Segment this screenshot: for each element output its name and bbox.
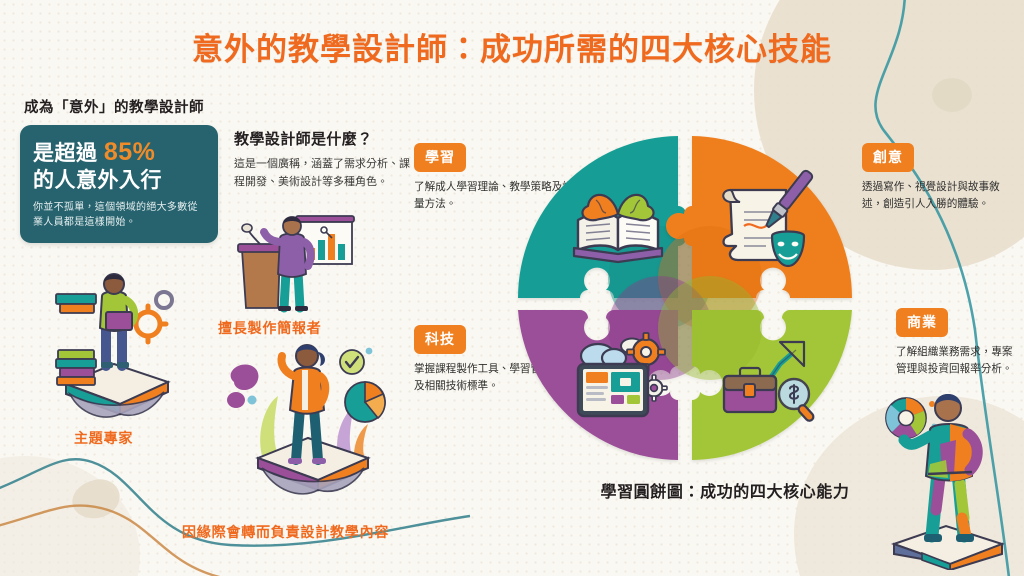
quadrant-body-business: 了解組織業務需求，專案管理與投資回報率分析。	[896, 344, 1022, 378]
quadrant-text-business: 商業 了解組織業務需求，專案管理與投資回報率分析。	[896, 308, 1022, 378]
accidental-illustration-svg	[222, 338, 392, 514]
what-is-heading: 教學設計師是什麼？	[234, 128, 412, 149]
quadrant-text-creative: 創意 透過寫作、視覺設計與故事敘述，創造引人入勝的體驗。	[862, 143, 1014, 213]
statistic-headline: 是超過 85% 的人意外入行	[33, 137, 205, 193]
badge-learning: 學習	[414, 143, 466, 172]
statistic-prefix: 是超過	[33, 142, 98, 165]
puzzle-wheel-svg	[510, 128, 860, 468]
beige-blob-small-bottom-left	[69, 475, 124, 522]
quadrant-body-creative: 透過寫作、視覺設計與故事敘述，創造引人入勝的體驗。	[862, 179, 1014, 213]
infographic-canvas: 意外的教學設計師：成功所需的四大核心技能 成為「意外」的教學設計師 是超過 85…	[0, 0, 1024, 576]
caption-presenter: 擅長製作簡報者	[218, 318, 322, 338]
illustration-business-analyst	[884, 378, 1014, 570]
statistic-line2: 的人意外入行	[33, 169, 162, 192]
page-title: 意外的教學設計師：成功所需的四大核心技能	[0, 24, 1024, 69]
what-is-block: 教學設計師是什麼？ 這是一個廣稱，涵蓋了需求分析、課程開發、美術設計等多種角色。	[234, 128, 412, 192]
caption-subject-matter-expert: 主題專家	[74, 428, 133, 448]
statistic-body: 你並不孤單，這個領域的絕大多數從業人員都是這樣開始。	[33, 200, 205, 230]
presenter-illustration-svg	[228, 212, 358, 330]
badge-creative: 創意	[862, 143, 914, 172]
badge-tech: 科技	[414, 325, 466, 354]
wheel-caption: 學習圓餅圖：成功的四大核心能力	[560, 478, 890, 502]
statistic-percent: 85%	[104, 138, 156, 166]
podium-icon	[238, 224, 284, 308]
illustration-accidental-designer	[222, 338, 392, 514]
illustration-presenter	[228, 212, 358, 330]
person-figure	[100, 274, 134, 368]
section-subheading: 成為「意外」的教學設計師	[24, 96, 204, 117]
puzzle-wheel-diagram	[510, 128, 860, 468]
analyst-illustration-svg	[884, 378, 1014, 570]
bookshelf-icon	[56, 294, 96, 385]
caption-accidental-designer: 因緣際會轉而負責設計教學內容	[182, 522, 389, 542]
illustration-subject-matter-expert	[44, 272, 184, 422]
beige-blob-small-top-right	[932, 78, 972, 112]
statistic-card: 是超過 85% 的人意外入行 你並不孤單，這個領域的絕大多數從業人員都是這樣開始…	[20, 125, 218, 243]
pie-chart-icon	[345, 382, 385, 422]
what-is-body: 這是一個廣稱，涵蓋了需求分析、課程開發、美術設計等多種角色。	[234, 156, 412, 192]
badge-business: 商業	[896, 308, 948, 337]
pedestal-icon	[894, 526, 1002, 570]
beige-blob-bottom-left	[0, 456, 140, 576]
sme-illustration-svg	[44, 272, 184, 422]
check-badge-icon	[340, 348, 372, 374]
